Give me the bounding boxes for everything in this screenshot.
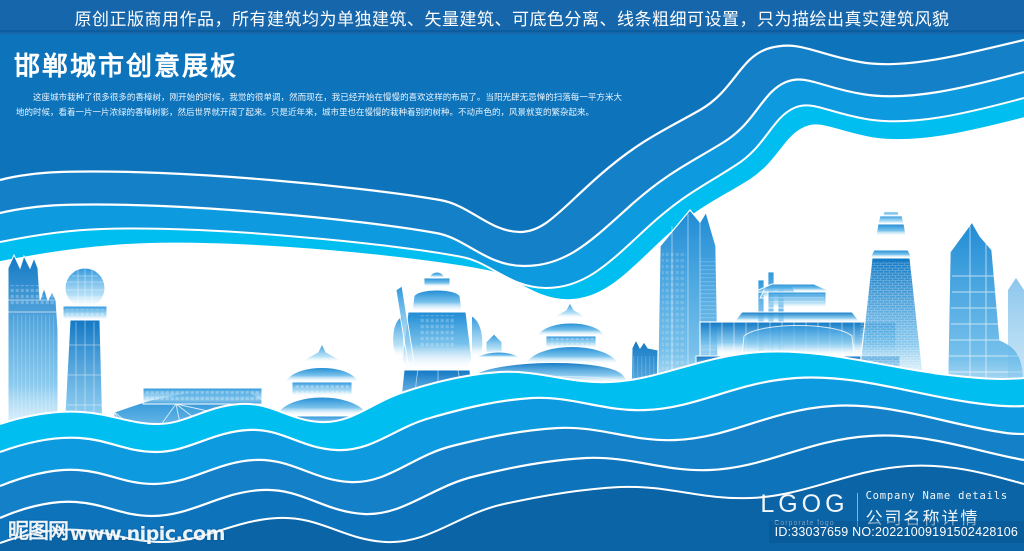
- site-watermark: 昵图网 www.nipic.com: [8, 515, 225, 545]
- poster-canvas: 原创正版商用作品，所有建筑均为单独建筑、矢量建筑、可底色分离、线条粗细可设置，只…: [0, 0, 1024, 551]
- id-watermark-text: ID:33037659 NO:20221009191502428106: [775, 525, 1018, 539]
- notice-text: 原创正版商用作品，所有建筑均为单独建筑、矢量建筑、可底色分离、线条粗细可设置，只…: [75, 5, 950, 30]
- logo-mark: LGOG: [760, 492, 848, 517]
- id-watermark-strip: ID:33037659 NO:20221009191502428106: [769, 521, 1024, 543]
- site-watermark-url: www.nipic.com: [70, 523, 225, 545]
- company-name-en: Company Name details: [866, 490, 1008, 502]
- notice-bar-rule: [0, 30, 1024, 32]
- notice-bar: 原创正版商用作品，所有建筑均为单独建筑、矢量建筑、可底色分离、线条粗细可设置，只…: [0, 0, 1024, 34]
- headline-block: 邯郸城市创意展板 这座城市栽种了很多很多的香樟树，刚开始的时候，我觉的很单调，然…: [0, 34, 640, 121]
- site-watermark-cn: 昵图网: [8, 515, 68, 545]
- page-title: 邯郸城市创意展板: [0, 34, 640, 83]
- body-paragraph: 这座城市栽种了很多很多的香樟树，刚开始的时候，我觉的很单调，然而现在，我已经开始…: [0, 83, 640, 121]
